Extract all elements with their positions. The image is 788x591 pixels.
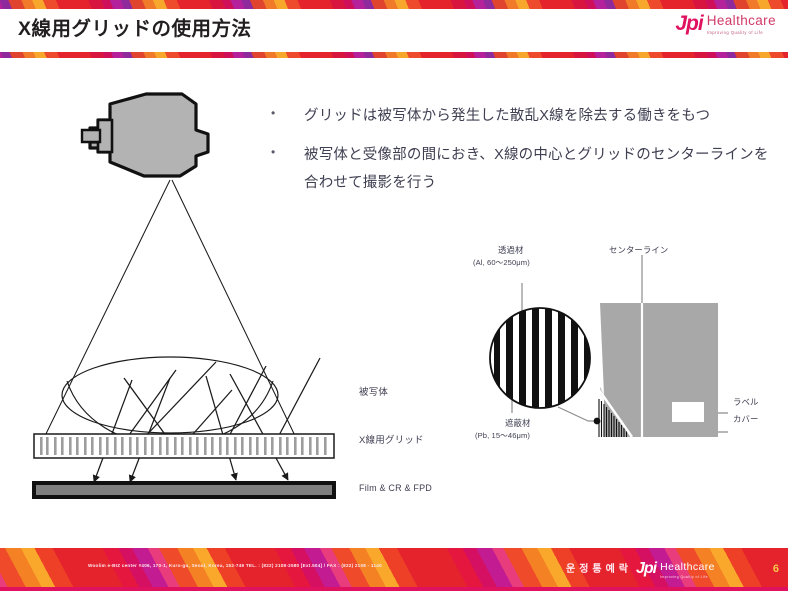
label-cover-callout: カバー <box>733 413 758 425</box>
footer-address: Woolim e-BIZ center #406, 170-1, Kuro-gu… <box>88 563 382 568</box>
label-shield-material-spec: (Pb, 15〜46μm) <box>475 430 530 441</box>
page-title: X線用グリッドの使用方法 <box>18 12 252 41</box>
xray-tube-icon <box>82 94 208 176</box>
label-transmit-material-spec: (Al, 60〜250μm) <box>473 257 530 268</box>
stripe-pattern <box>0 0 788 9</box>
slide-footer: Woolim e-BIZ center #406, 170-1, Kuro-gu… <box>0 548 788 591</box>
label-center-line: センターライン <box>609 244 668 256</box>
footer-bottom-rule <box>0 587 788 591</box>
primary-beam-cone-icon <box>42 180 298 442</box>
logo-tagline: Improving Quality of Life <box>707 30 776 35</box>
stripe-pattern <box>0 52 788 58</box>
page-number: 6 <box>773 563 779 575</box>
label-shield-material: 遮蔽材 <box>505 417 530 429</box>
jpi-logomark: Jpi <box>636 561 656 577</box>
header-bottom-stripe <box>0 52 788 58</box>
detector-bar-icon <box>34 483 334 497</box>
subject-ellipse-icon <box>62 357 278 445</box>
label-transmit-material: 透過材 <box>498 244 523 256</box>
label-subject: 被写体 <box>359 384 388 398</box>
label-film: Film & CR & FPD <box>359 483 432 493</box>
logo-wordmark: Healthcare <box>660 562 715 573</box>
logo-tagline: Improving Quality of Life <box>660 575 715 579</box>
footer-korean-slogan: 운정통예락 <box>566 560 632 575</box>
transmitted-beam-arrows-icon <box>94 374 288 482</box>
slide-canvas: X線用グリッドの使用方法 Jpi Healthcare Improving Qu… <box>0 0 788 591</box>
xray-setup-diagram <box>20 90 380 510</box>
logo-wordmark: Healthcare <box>707 14 776 28</box>
grid-bar-icon <box>34 434 334 458</box>
header-logo: Jpi Healthcare Improving Quality of Life <box>675 14 776 35</box>
jpi-logomark: Jpi <box>675 13 702 34</box>
label-patch-icon <box>672 402 704 422</box>
magnified-grid-circle-icon <box>488 305 594 413</box>
label-label-callout: ラベル <box>733 396 758 408</box>
footer-logo: Jpi Healthcare Improving Quality of Life <box>636 562 715 579</box>
label-grid: X線用グリッド <box>359 432 424 446</box>
header-top-stripe <box>0 0 788 9</box>
